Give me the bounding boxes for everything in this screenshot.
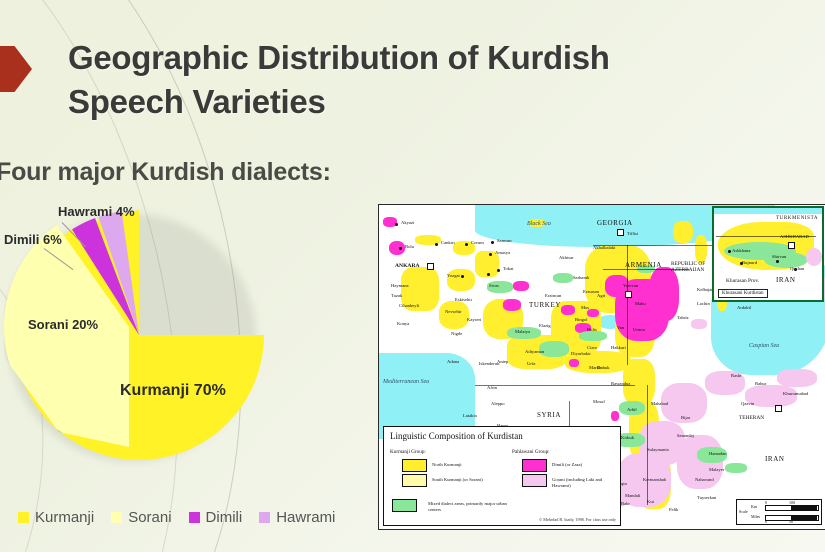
inset-label-ashkhabad: ASHKHABAD — [780, 234, 809, 239]
map-city-yozgat: Yozgat — [447, 273, 460, 278]
map-legend-label-gorani: Gorani (including Laki and Hawrami) — [552, 477, 614, 488]
map-country-armenia: ARMENIA — [625, 261, 662, 269]
pie-label-hawrami: Hawrami 4% — [58, 204, 135, 219]
kurdistan-map[interactable]: TURKEY SYRIA IRAQ IRAN GEORGIA ARMENIA R… — [378, 204, 825, 530]
map-city-urfa: Urfa — [527, 361, 535, 366]
map-capital-tbilisi: Tiflisi — [627, 231, 638, 236]
legend-item-sorani[interactable]: Sorani — [111, 509, 171, 526]
map-city-dot-6 — [489, 253, 492, 256]
map-city-afrin: Afrin — [487, 385, 497, 390]
area-mixed-9 — [725, 463, 747, 473]
map-city-dot-1 — [395, 223, 398, 226]
legend-swatch-kurmanji — [18, 512, 29, 523]
map-city-agri: Agri — [597, 293, 605, 298]
map-city-lachin: Lachin — [697, 301, 710, 306]
map-capital-marker-teheran — [775, 405, 782, 412]
map-city-diyarbakir: Diyarbakir — [571, 351, 591, 356]
inset-dot-2 — [740, 262, 743, 265]
legend-swatch-sorani — [111, 512, 122, 523]
map-city-konya: Konya — [397, 321, 409, 326]
map-city-bingol: Bingol — [575, 317, 588, 322]
map-city-mandali: Mandali — [625, 493, 640, 498]
map-capital-ankara: ANKARA — [395, 263, 420, 269]
map-city-maku: Maku — [635, 301, 646, 306]
map-legend-group-heading-pahlawani: Pahlawani Group: — [512, 449, 550, 455]
legend-label-kurmanji: Kurmanji — [35, 509, 94, 526]
map-city-nahavand: Nahavand — [695, 477, 714, 482]
scale-km-tick-1: 100 — [789, 500, 795, 505]
inset-city-quchan: Quchan — [790, 266, 804, 271]
legend-label-hawrami: Hawrami — [276, 509, 335, 526]
map-city-sulaymania: Sulaymania — [647, 447, 669, 452]
map-city-mahabad: Mahabad — [651, 401, 668, 406]
legend-item-dimili[interactable]: Dimili — [189, 509, 243, 526]
scale-label: Scale — [739, 509, 748, 514]
map-city-cankiri: Cankiri — [441, 240, 455, 245]
map-city-aleppo: Aleppo — [491, 401, 505, 406]
map-city-van: Van — [617, 325, 624, 330]
map-city-latakia: Latakia — [463, 413, 477, 418]
inset-label-khurasan-prov: Khurasan Prov. — [726, 278, 759, 284]
inset-city-ashkhana: Ashkhana — [732, 248, 750, 253]
map-city-cizre: Cizre — [587, 345, 597, 350]
map-city-tokat: Tokat — [503, 266, 513, 271]
scale-mi-tick-1: 50 — [789, 519, 793, 524]
inset-dot-4 — [794, 268, 797, 271]
map-city-tuyserkan: Tuyserkan — [697, 495, 716, 500]
scale-bar-km-fill — [791, 506, 817, 510]
map-city-cihanbeyli: Cihanbeyli — [399, 303, 419, 308]
area-dimili-10 — [587, 309, 599, 317]
map-legend-swatch-mixed — [392, 499, 417, 512]
map-capital-marker-yerevan — [625, 291, 632, 298]
map-city-akhalkalaki: Akhalkalaki — [593, 245, 615, 250]
inset-city-bujnurd: Bujnurd — [742, 260, 757, 265]
map-city-felik: Felik — [669, 507, 678, 512]
map-city-akyazi: Akyazi — [401, 220, 414, 225]
map-country-iran: IRAN — [765, 455, 785, 463]
legend-swatch-dimili — [189, 512, 200, 523]
map-legend-title: Linguistic Composition of Kurdistan — [390, 431, 523, 441]
map-country-azerbaijan: REPUBLIC OFAZERBAIJAN — [671, 261, 705, 273]
map-capital-marker-tbilisi — [617, 229, 624, 236]
map-city-malayer: Malayer — [709, 467, 724, 472]
map-city-erzincan: Erzincan — [545, 293, 561, 298]
legend-item-kurmanji[interactable]: Kurmanji — [18, 509, 94, 526]
map-city-eskisehir: Eskisehir — [455, 297, 472, 302]
map-city-rasht: Rasht — [731, 373, 741, 378]
map-sea-caspian: Caspian Sea — [749, 343, 779, 349]
map-city-malatya: Malatya — [515, 329, 530, 334]
map-city-adiyaman: Adiyaman — [525, 349, 544, 354]
map-legend-swatch-north-kurmanji — [402, 459, 427, 472]
map-city-kermanshah: Kermanshah — [643, 477, 666, 482]
map-capital-yerevan: Yerevan — [623, 283, 638, 288]
map-city-kirkuk: Kirkuk — [621, 435, 634, 440]
area-dimili-11 — [561, 305, 575, 315]
inset-caption: Khurasani Kurdistan — [718, 289, 768, 298]
map-legend-label-mixed: Mixed dialect areas, primarily major urb… — [428, 501, 516, 512]
page-title: Geographic Distribution of Kurdish Speec… — [68, 36, 708, 123]
map-city-dot-9 — [461, 275, 464, 278]
area-north-kurmanji-6 — [439, 301, 469, 329]
scale-km-tick-0: 0 — [765, 500, 767, 505]
legend-item-hawrami[interactable]: Hawrami — [259, 509, 335, 526]
scale-mi-tick-0: 0 — [765, 519, 767, 524]
map-capital-marker-ankara — [427, 263, 434, 270]
pie-chart: Hawrami 4% Dimili 6% Sorani 20% Kurmanji… — [0, 196, 360, 496]
map-legend-label-north-kurmanji: North Kurmanji — [432, 462, 461, 468]
map-city-bitlis: Bitlis — [587, 327, 597, 332]
area-mixed-4 — [579, 331, 607, 341]
map-city-corum: Corum — [471, 240, 484, 245]
map-legend-label-dimili: Dimili (or Zaza) — [552, 462, 582, 468]
map-scale-bar: Scale Km Miles 0 100 0 50 — [736, 499, 822, 525]
scale-bar-miles-fill — [791, 516, 817, 520]
map-city-samsun: Samsun — [497, 238, 512, 243]
map-city-sivas: Sivas — [489, 283, 499, 288]
scale-km-label: Km — [751, 504, 757, 509]
map-city-haymana: Haymana — [391, 283, 409, 288]
map-legend: Linguistic Composition of Kurdistan Kurm… — [383, 426, 621, 526]
map-city-nevsehir: Nevsehir — [445, 309, 462, 314]
map-legend-swatch-south-kurmanji — [402, 474, 427, 487]
area-gorani-8 — [691, 319, 707, 329]
pie-label-sorani: Sorani 20% — [28, 317, 98, 332]
map-city-mosul: Mosul — [593, 399, 605, 404]
inset-label-iran: IRAN — [776, 276, 796, 284]
map-city-mus: Mus — [581, 305, 589, 310]
map-sea-mediterranean: Mediterranean Sea — [383, 379, 429, 385]
inset-city-shirvan: Shirvan — [772, 254, 786, 259]
map-city-bakr: Bakr — [621, 501, 630, 506]
area-mixed-5 — [553, 273, 573, 283]
map-city-dot-4 — [465, 243, 468, 246]
map-city-sarhamk: Sarhamk — [573, 275, 589, 280]
map-city-kelbajar: Kelbajar — [697, 287, 713, 292]
map-city-sanandaj: Sanandaj — [677, 433, 694, 438]
pie-label-dimili: Dimili 6% — [4, 232, 62, 247]
map-legend-swatch-gorani — [522, 474, 547, 487]
map-city-dot-8 — [497, 269, 500, 272]
map-city-iskenderun: Iskenderun — [479, 361, 499, 366]
map-city-nigde: Nigde — [451, 331, 462, 336]
map-city-qazvin: Qazvin — [741, 401, 754, 406]
inset-dot-1 — [728, 250, 731, 253]
map-city-ardabil: Ardabil — [737, 305, 751, 310]
map-capital-teheran: TEHERAN — [739, 415, 764, 421]
arrow-bullet-icon — [0, 46, 32, 92]
area-north-kurmanji-16 — [673, 221, 693, 243]
area-dimili-12 — [611, 411, 619, 421]
map-city-bolu: Bolu — [405, 244, 414, 249]
map-city-tabriz: Tabriz — [677, 315, 689, 320]
area-north-kurmanji-17 — [695, 235, 707, 263]
map-city-rawanduz: Rawanduz — [611, 381, 630, 386]
map-city-akhisar: Akhisar — [559, 255, 574, 260]
area-gorani-7 — [777, 369, 817, 387]
area-dimili-3 — [503, 299, 521, 311]
map-country-georgia: GEORGIA — [597, 219, 633, 227]
inset-water — [714, 208, 822, 214]
map-city-dot-3 — [435, 243, 438, 246]
map-city-dot-2 — [399, 247, 402, 250]
map-city-dot-7 — [487, 273, 490, 276]
map-city-babur: Babur — [755, 381, 766, 386]
inset-label-turkmenistan: TURKMENISTA — [776, 216, 818, 221]
map-city-kayseri: Kayseri — [467, 317, 481, 322]
area-dimili-2 — [389, 241, 405, 255]
map-city-tuzak: Tuzak — [391, 293, 402, 298]
map-legend-label-south-kurmanji: South Kurmanji (or Sorani) — [432, 477, 483, 483]
map-inset-khurasani-kurdistan[interactable]: TURKMENISTA ASHKHABAD Khurasan Prov. IRA… — [712, 206, 824, 302]
legend-swatch-hawrami — [259, 512, 270, 523]
map-city-hakkari: Hakkari — [611, 345, 626, 350]
border-iraq-iran — [647, 385, 648, 505]
map-city-hamadan: Hamadan — [709, 451, 727, 456]
map-legend-group-heading-kurmanji: Kurmanji Group: — [390, 449, 426, 455]
inset-dot-3 — [776, 260, 779, 263]
chart-legend: Kurmanji Sorani Dimili Hawrami — [18, 509, 335, 526]
pie-label-kurmanji: Kurmanji 70% — [120, 382, 226, 400]
map-legend-swatch-dimili — [522, 459, 547, 472]
map-city-amasya: Amasya — [495, 250, 510, 255]
map-city-adana: Adana — [447, 359, 459, 364]
legend-label-sorani: Sorani — [128, 509, 171, 526]
map-city-arbil: Arbil — [627, 407, 637, 412]
scale-miles-label: Miles — [751, 514, 760, 519]
map-city-khurramabad: Khurramabad — [783, 391, 808, 396]
map-legend-credit: © Mehrdad R. Izady, 1998. For class use … — [539, 517, 616, 522]
map-city-dohuk: Dohuk — [597, 365, 610, 370]
inset-area-pink — [806, 248, 822, 266]
map-city-dot-5 — [491, 241, 494, 244]
map-city-urmia: Urmia — [633, 327, 645, 332]
map-city-kut: Kut — [647, 499, 654, 504]
area-dimili-4 — [513, 281, 529, 291]
map-city-elazig: Elazig — [539, 323, 551, 328]
map-sea-black: Black Sea — [527, 221, 551, 227]
slide: Geographic Distribution of Kurdish Speec… — [0, 0, 825, 552]
map-city-bijar: Bijar — [681, 415, 690, 420]
area-dimili-5 — [569, 359, 579, 367]
legend-label-dimili: Dimili — [206, 509, 243, 526]
inset-marker-ashkhabad — [788, 242, 795, 249]
map-country-turkey: TURKEY — [529, 301, 561, 309]
subtitle: Four major Kurdish dialects: — [0, 158, 331, 187]
area-dimili-7 — [649, 267, 679, 321]
map-country-syria: SYRIA — [537, 411, 561, 419]
